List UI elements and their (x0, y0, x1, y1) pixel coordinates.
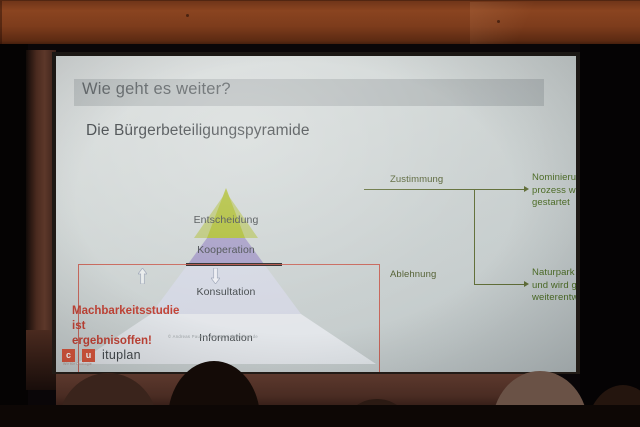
branch-line-from-decision (364, 189, 474, 190)
ceiling-highlight (470, 2, 560, 46)
branch-label-zustimmung: Zustimmung (390, 174, 443, 185)
ceiling-plank (0, 1, 2, 49)
logo: c u ituplan Wir für Okologie (62, 348, 141, 362)
outcome-branch-diagram: Zustimmung Ablehnung Nominierungs- proze… (356, 164, 576, 344)
ceiling-seam (0, 0, 640, 1)
wall-below-screen (56, 372, 556, 412)
outcome-reject-line-3: weiterentwickelt (532, 292, 576, 305)
pyramid-level-konsultation: Konsultation (126, 286, 326, 298)
arrowhead-accept-icon (524, 186, 529, 192)
page-title: Wie geht es weiter? (82, 80, 542, 99)
highlight-line-2: ist (72, 319, 204, 334)
wooden-ceiling (0, 0, 640, 48)
branch-outcome-accept: Nominierungs- prozess wird gestartet (532, 172, 576, 210)
feasibility-highlight-text: Machbarkeitsstudie ist ergebnisoffen! (72, 304, 204, 349)
outcome-accept-line-1: Nominierungs- (532, 172, 576, 185)
logo-wordmark: ituplan (102, 348, 141, 362)
pyramid-level-entscheidung: Entscheidung (126, 214, 326, 226)
outcome-accept-line-3: gestartet (532, 197, 576, 210)
arrow-down-icon (211, 268, 220, 284)
room-left-edge (0, 44, 28, 427)
branch-line-accept (474, 189, 526, 190)
outcome-accept-line-2: prozess wird (532, 185, 576, 198)
highlight-line-1: Machbarkeitsstudie (72, 304, 204, 319)
logo-mark-u: u (82, 349, 95, 362)
room-right-edge (580, 44, 640, 427)
ceiling-knot (186, 14, 189, 17)
projection-screen: Wie geht es weiter? Die Bürgerbeteiligun… (56, 56, 576, 372)
branch-label-ablehnung: Ablehnung (390, 269, 436, 280)
branch-line-vertical (474, 189, 475, 285)
arrowhead-reject-icon (524, 281, 529, 287)
logo-mark-c: c (62, 349, 75, 362)
photo-scene: Wie geht es weiter? Die Bürgerbeteiligun… (0, 0, 640, 427)
arrow-up-icon (138, 268, 147, 284)
branch-outcome-reject: Naturpark bleibt und wird ggf. weiterent… (532, 267, 576, 305)
branch-line-reject (474, 284, 526, 285)
slide-subtitle: Die Bürgerbeteiligungspyramide (86, 122, 310, 140)
outcome-reject-line-2: und wird ggf. (532, 280, 576, 293)
slide: Wie geht es weiter? Die Bürgerbeteiligun… (56, 56, 576, 372)
copyright-notice: © Andreas Paust · www.partizipendium.de (168, 334, 258, 339)
logo-tagline: Wir für Okologie (63, 362, 92, 366)
outcome-reject-line-1: Naturpark bleibt (532, 267, 576, 280)
pyramid-level-kooperation: Kooperation (126, 244, 326, 256)
ceiling-knot (497, 20, 500, 23)
